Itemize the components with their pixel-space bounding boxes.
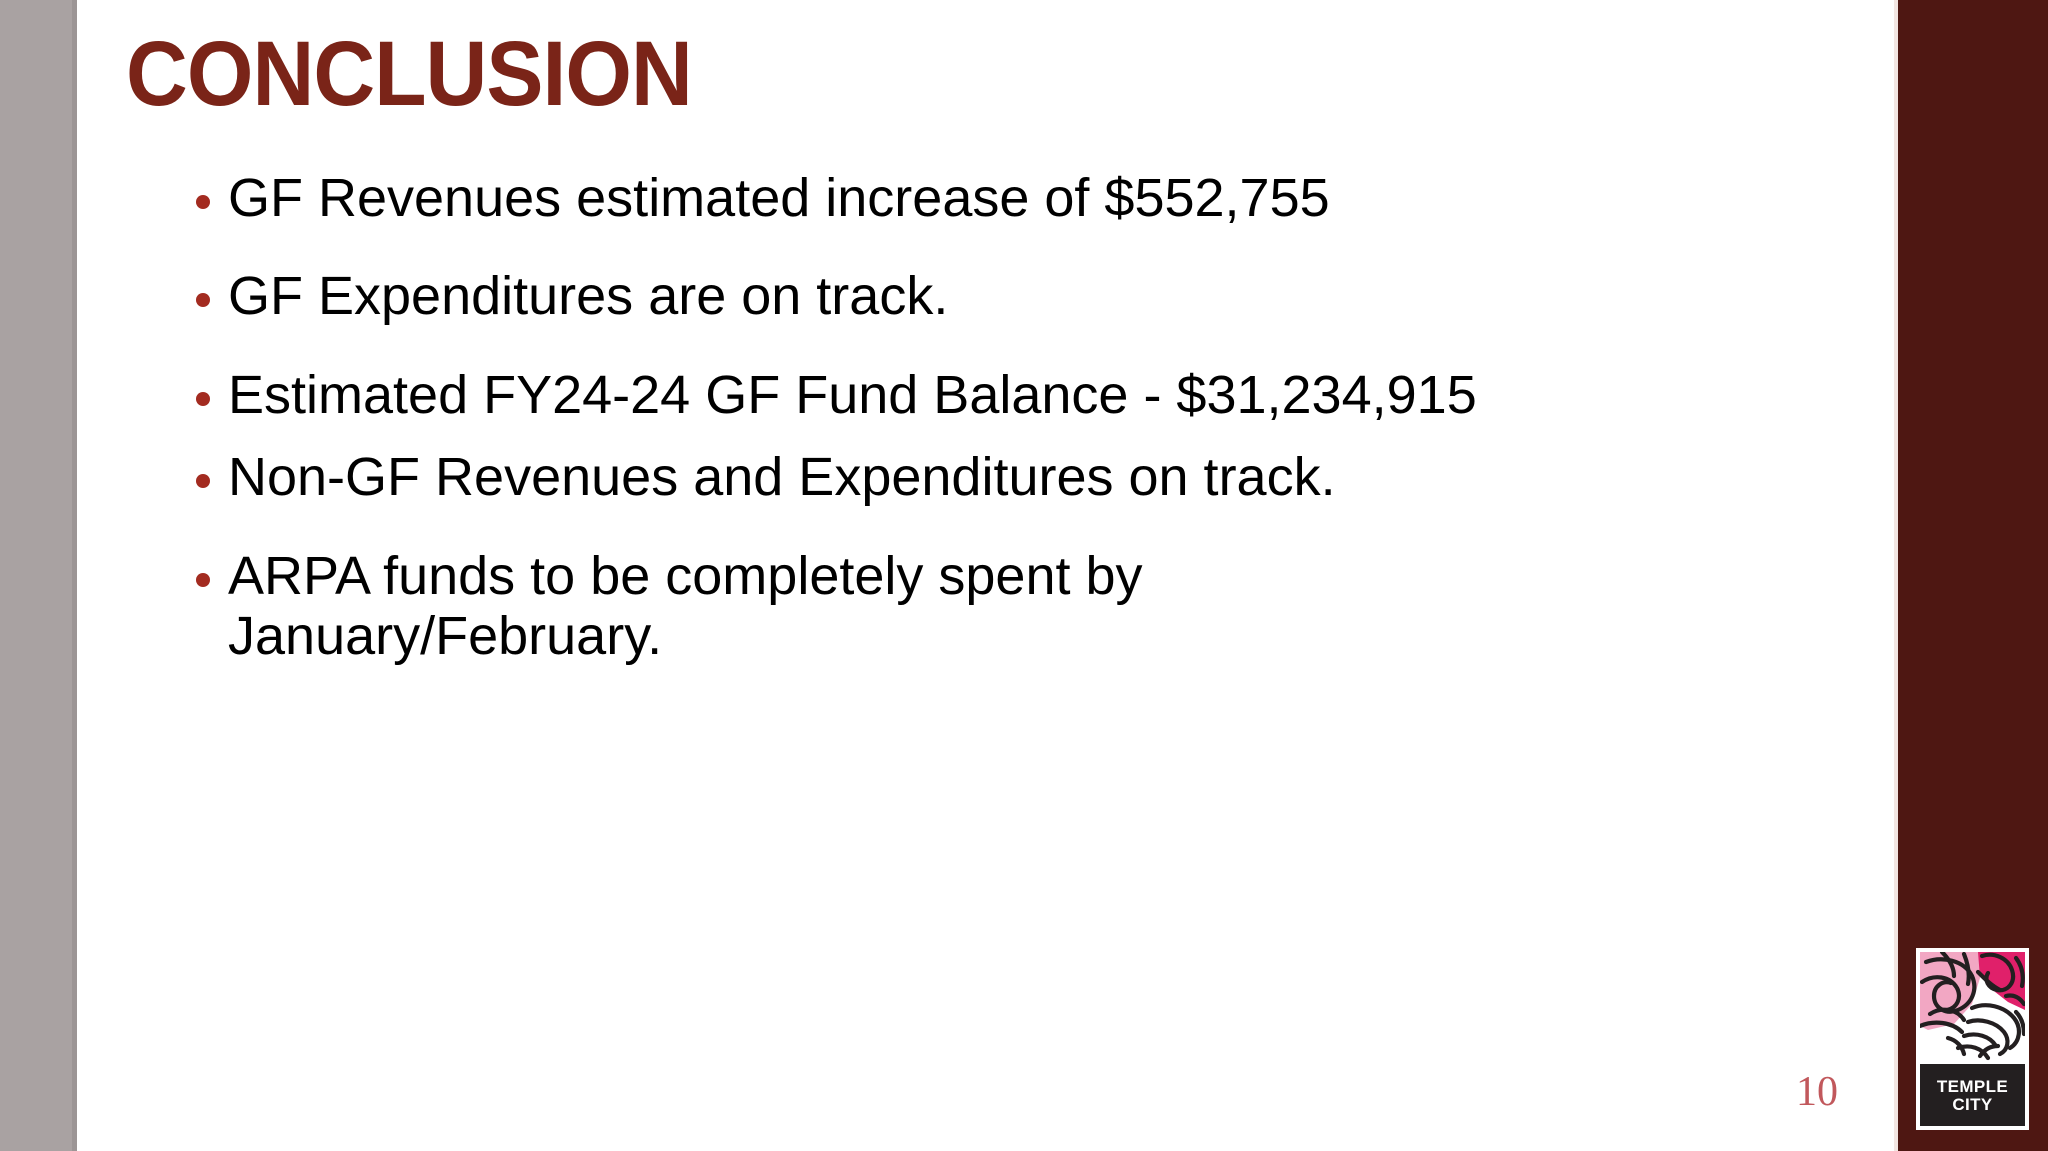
- logo-line-2: CITY: [1952, 1096, 1992, 1113]
- bullet-text: GF Revenues estimated increase of $552,7…: [228, 168, 1856, 228]
- left-decorative-band: [0, 0, 72, 1151]
- slide: CONCLUSION GF Revenues estimated increas…: [0, 0, 2048, 1151]
- bullet-text: Non-GF Revenues and Expenditures on trac…: [228, 447, 1856, 507]
- camellia-flower-icon: [1920, 952, 2025, 1062]
- page-number: 10: [1796, 1068, 1838, 1116]
- bullet-dot-icon: [196, 392, 210, 406]
- bullet-dot-icon: [196, 474, 210, 488]
- list-item: ARPA funds to be completely spent by Jan…: [196, 546, 1856, 667]
- temple-city-logo: TEMPLE CITY: [1916, 948, 2029, 1130]
- list-item: GF Revenues estimated increase of $552,7…: [196, 168, 1856, 228]
- left-band-rule: [72, 0, 77, 1151]
- list-item: GF Expenditures are on track.: [196, 266, 1856, 326]
- list-item: Estimated FY24-24 GF Fund Balance - $31,…: [196, 365, 1856, 425]
- bullet-text: Estimated FY24-24 GF Fund Balance - $31,…: [228, 365, 1856, 425]
- bullet-dot-icon: [196, 573, 210, 587]
- list-item: Non-GF Revenues and Expenditures on trac…: [196, 447, 1856, 507]
- bullet-list: GF Revenues estimated increase of $552,7…: [196, 168, 1856, 705]
- logo-wordmark: TEMPLE CITY: [1920, 1064, 2025, 1126]
- bullet-text: GF Expenditures are on track.: [228, 266, 1856, 326]
- logo-inner: TEMPLE CITY: [1920, 952, 2025, 1126]
- page-title: CONCLUSION: [126, 26, 692, 123]
- bullet-dot-icon: [196, 293, 210, 307]
- bullet-text: ARPA funds to be completely spent by Jan…: [228, 546, 1856, 667]
- logo-line-1: TEMPLE: [1937, 1078, 2008, 1095]
- bullet-dot-icon: [196, 195, 210, 209]
